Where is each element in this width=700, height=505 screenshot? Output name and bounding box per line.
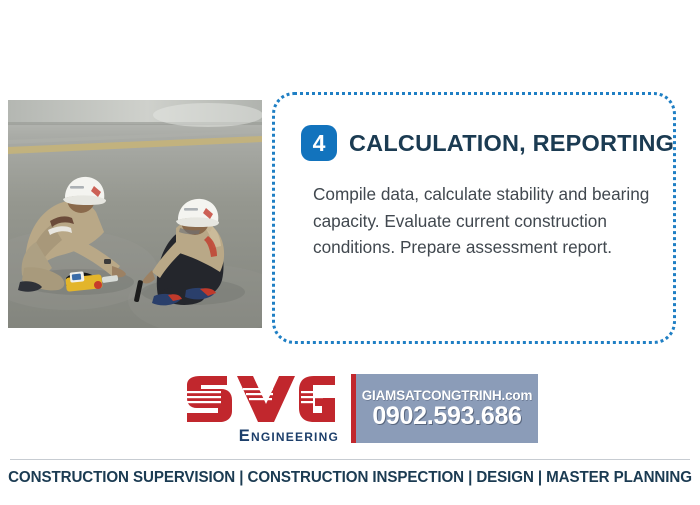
card-header: 4 CALCULATION, REPORTING <box>301 125 674 161</box>
card-body-text: Compile data, calculate stability and be… <box>313 181 653 261</box>
contact-box: GIAMSATCONGTRINH.com 0902.593.686 <box>356 374 538 443</box>
card-body: Compile data, calculate stability and be… <box>313 181 653 261</box>
brand-row: Engineering GIAMSATCONGTRINH.com 0902.59… <box>183 374 538 446</box>
website-text: GIAMSATCONGTRINH.com <box>362 388 533 403</box>
footer: Engineering GIAMSATCONGTRINH.com 0902.59… <box>0 374 700 505</box>
card-title: CALCULATION, REPORTING <box>349 130 674 157</box>
site-inspection-photo <box>8 100 262 328</box>
svg-logo: Engineering <box>183 374 341 446</box>
svg-wordmark-icon <box>183 374 341 424</box>
step-card: 4 CALCULATION, REPORTING Compile data, c… <box>272 92 676 344</box>
photo-illustration <box>8 100 262 328</box>
logo-subtitle: Engineering <box>183 427 341 446</box>
step-number-badge: 4 <box>301 125 337 161</box>
footer-tagline: CONSTRUCTION SUPERVISION | CONSTRUCTION … <box>4 469 697 487</box>
phone-number-text: 0902.593.686 <box>372 403 521 429</box>
footer-divider <box>10 459 690 460</box>
